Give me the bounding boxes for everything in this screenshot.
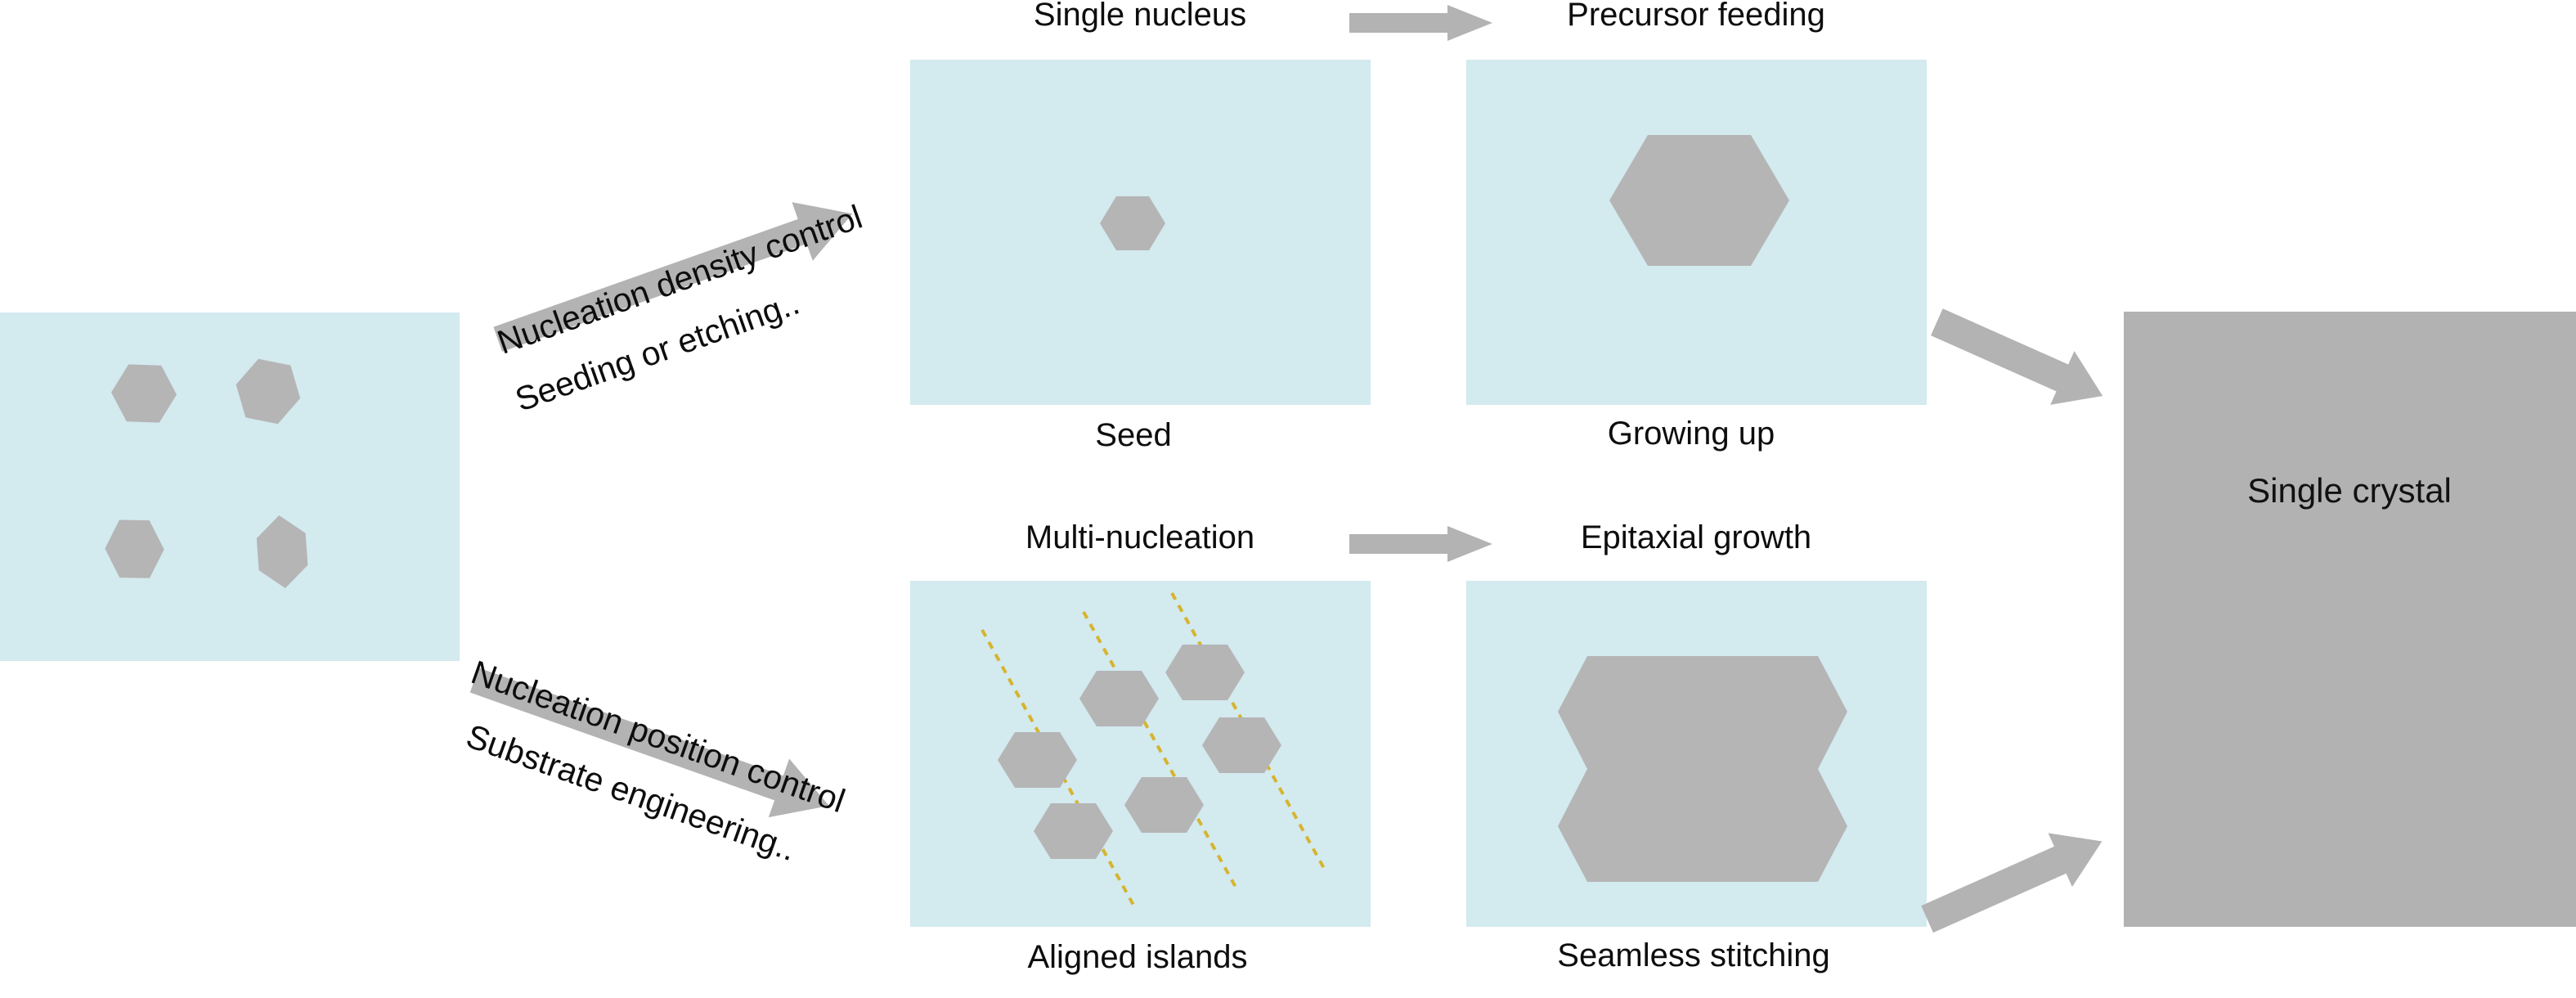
- substrate-nucleus-hexagon: [227, 352, 308, 431]
- epitaxial-growth-header: Epitaxial growth: [1581, 521, 1811, 554]
- island-hexagons: [998, 645, 1281, 859]
- substrate-nucleus-hexagon: [250, 511, 314, 592]
- seed-hexagon: [1100, 196, 1165, 250]
- substrate-nucleus-hexagon: [100, 513, 169, 586]
- aligned-islands-group: [910, 581, 1371, 927]
- island-hexagon: [1034, 803, 1113, 859]
- nucleation-density-arrow: [491, 213, 916, 393]
- multi-nucleation-to-epitaxial-arrow: [1349, 526, 1497, 562]
- island-hexagon: [1079, 671, 1159, 726]
- island-hexagon: [1165, 645, 1245, 700]
- seed-hexagon-group: [910, 60, 1371, 405]
- single-crystal-panel: [2124, 312, 2576, 927]
- lower-route-to-crystal-arrow: [1926, 867, 2147, 998]
- diagram-canvas: Nucleation density control Seeding or et…: [0, 0, 2576, 987]
- single-nucleus-header: Single nucleus: [1034, 0, 1246, 31]
- single-nucleus-to-precursor-arrow: [1349, 5, 1497, 41]
- seamless-stitching-group: [1466, 581, 1927, 927]
- island-hexagon: [1202, 717, 1281, 773]
- substrate-nucleus-hexagon: [110, 364, 177, 424]
- single-crystal-label: Single crystal: [2247, 471, 2452, 510]
- upper-route-to-crystal-arrow: [1938, 286, 2143, 417]
- multi-nucleation-header: Multi-nucleation: [1025, 521, 1254, 554]
- seamless-stitching-footer-label: Seamless stitching: [1557, 939, 1829, 972]
- aligned-islands-footer-label: Aligned islands: [1027, 941, 1247, 973]
- growing-up-hexagon: [1609, 135, 1789, 266]
- growing-up-footer-label: Growing up: [1608, 417, 1775, 450]
- precursor-feeding-header: Precursor feeding: [1567, 0, 1825, 31]
- substrate-nuclei-group: [0, 312, 460, 661]
- growing-up-hexagon-group: [1466, 60, 1927, 405]
- seed-footer-label: Seed: [1095, 419, 1171, 452]
- stitched-crystal-shape: [1558, 656, 1847, 882]
- island-hexagon: [1124, 777, 1204, 833]
